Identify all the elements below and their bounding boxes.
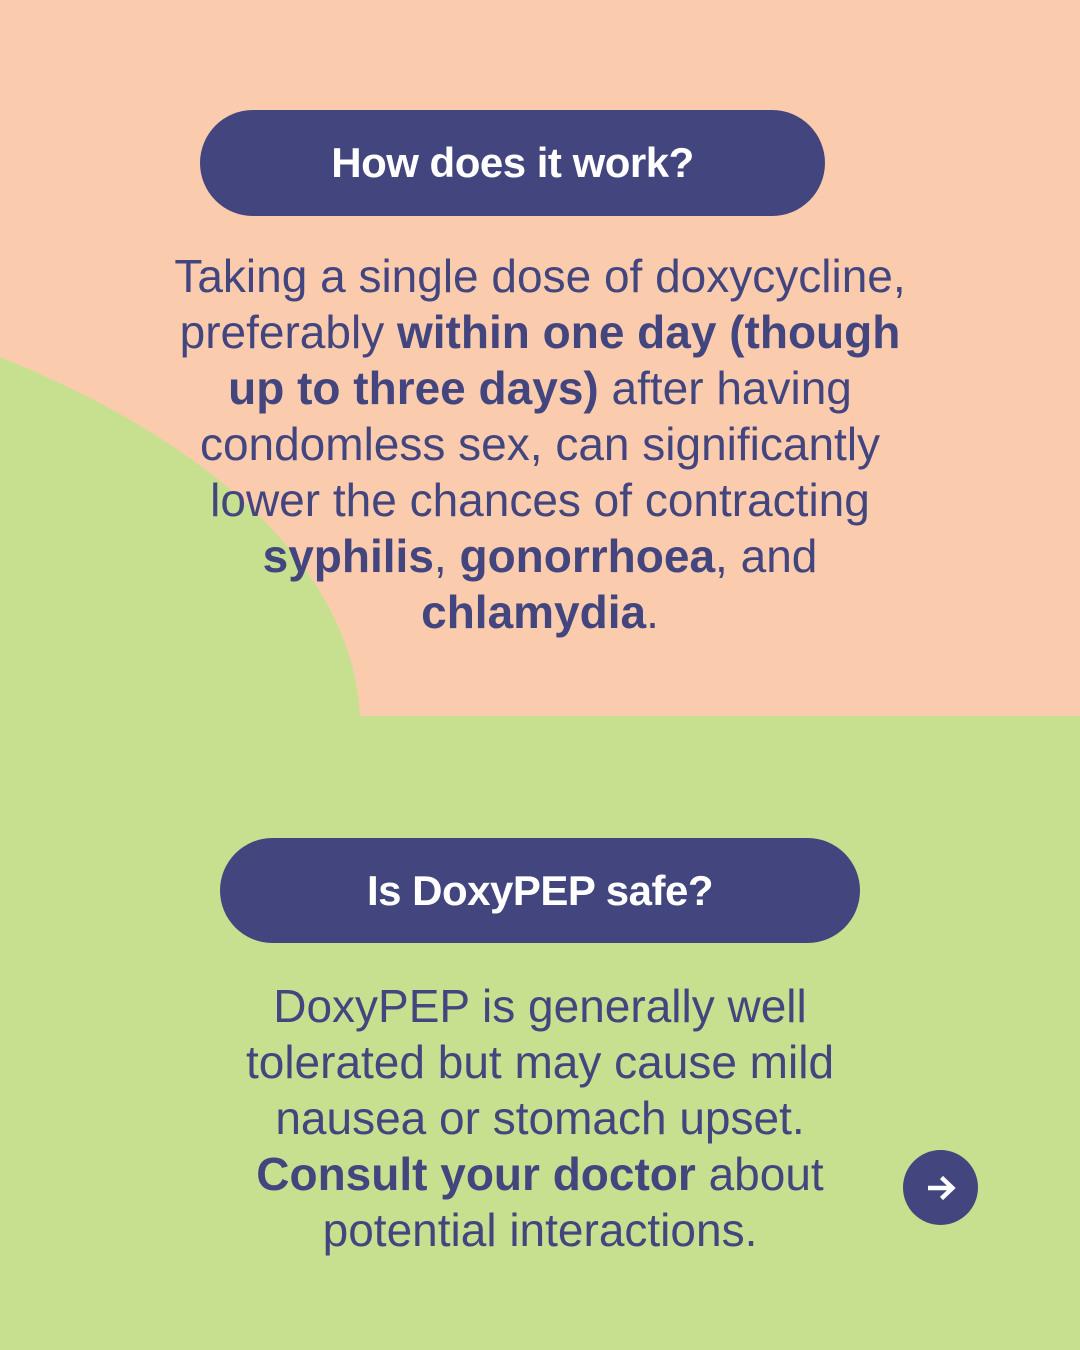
question-pill-label: Is DoxyPEP safe? <box>367 867 713 915</box>
emphasis-text: chlamydia <box>421 586 646 638</box>
emphasis-text: syphilis <box>263 530 434 582</box>
question-pill-is-doxypep-safe[interactable]: Is DoxyPEP safe? <box>220 838 860 943</box>
emphasis-text: Consult your doctor <box>256 1148 696 1200</box>
answer-text-how-does-it-work: Taking a single dose of doxycycline, pre… <box>160 248 920 640</box>
arrow-right-icon <box>921 1168 961 1208</box>
answer-text-is-doxypep-safe: DoxyPEP is generally well tolerated but … <box>190 978 890 1258</box>
plain-text: , <box>434 530 460 582</box>
question-pill-label: How does it work? <box>331 139 694 187</box>
plain-text: . <box>646 586 659 638</box>
question-pill-how-does-it-work[interactable]: How does it work? <box>200 110 825 216</box>
plain-text: , and <box>715 530 817 582</box>
slide-canvas: How does it work? Taking a single dose o… <box>0 0 1080 1350</box>
plain-text: DoxyPEP is generally well tolerated but … <box>246 980 834 1144</box>
next-slide-button[interactable] <box>903 1150 978 1225</box>
emphasis-text: gonorrhoea <box>459 530 715 582</box>
